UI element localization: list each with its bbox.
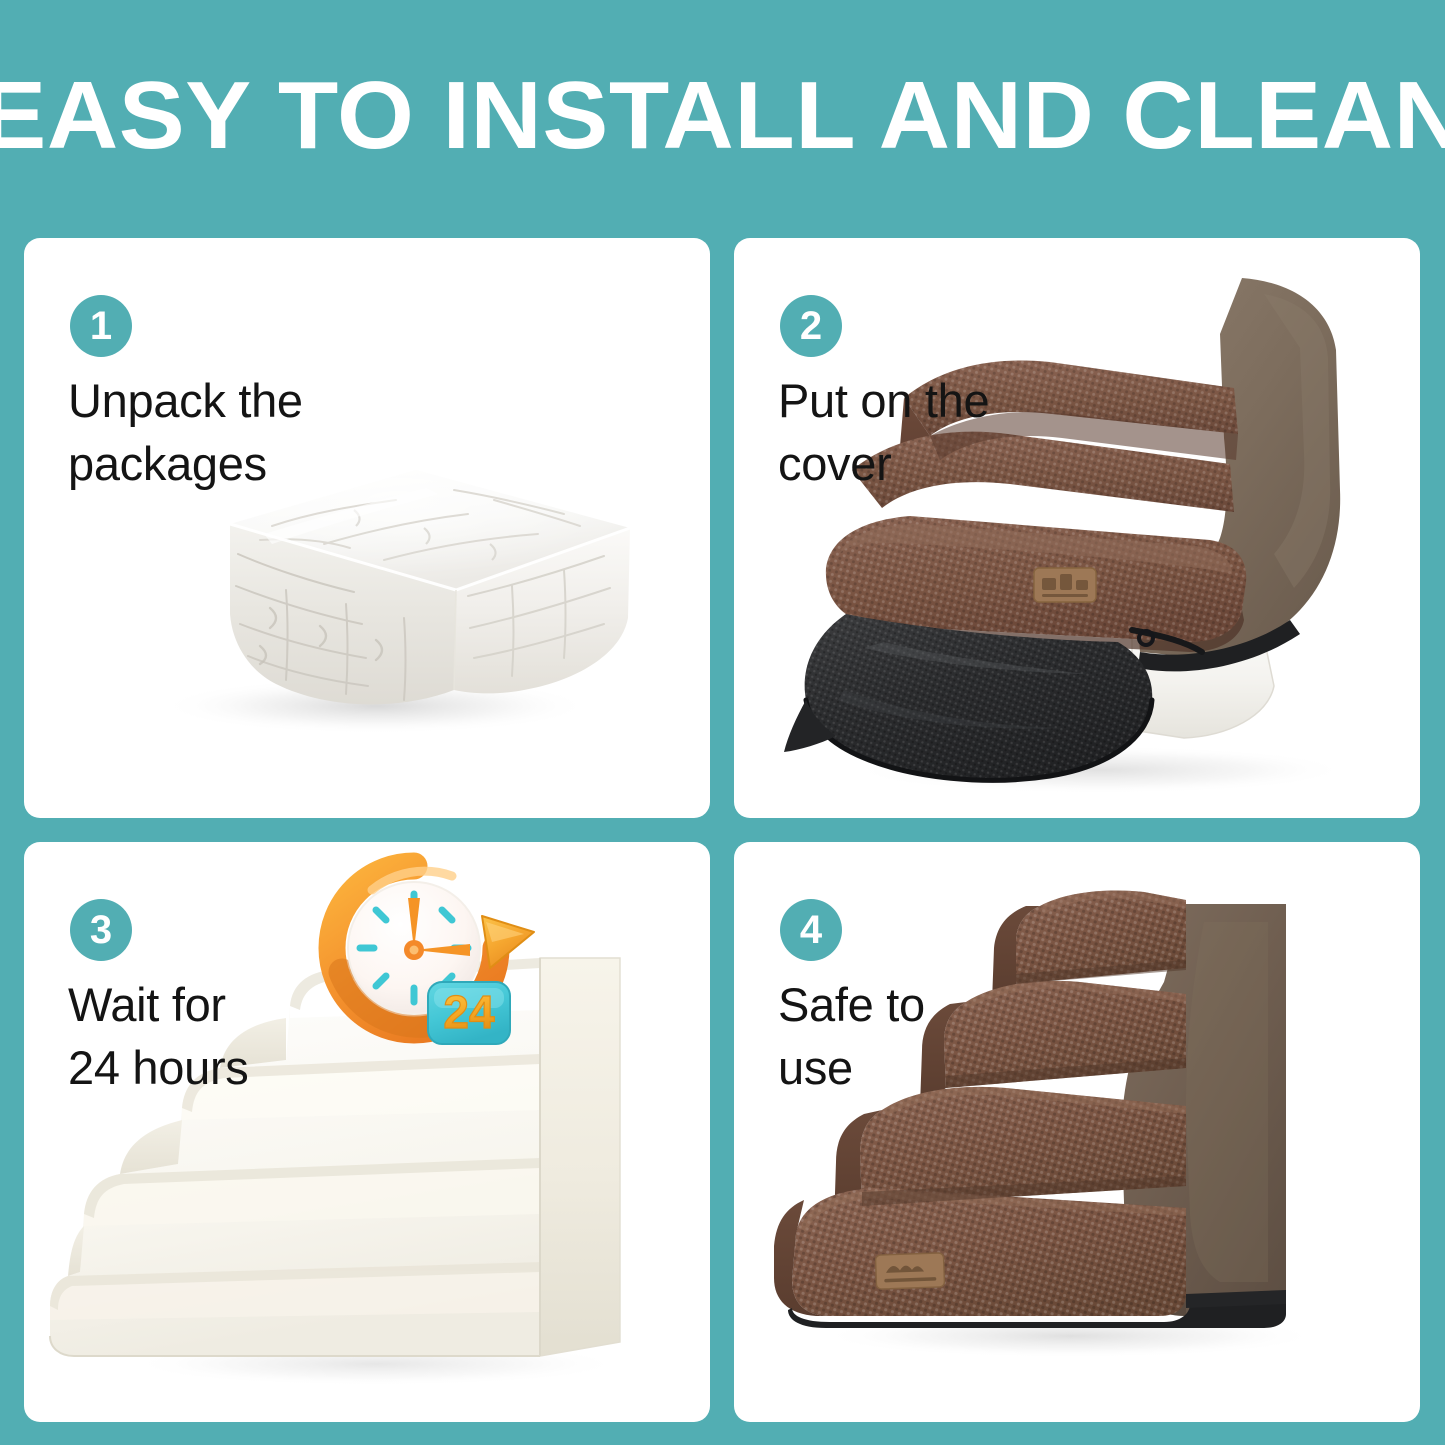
step-caption-1: Unpack the packages [68, 370, 368, 495]
leather-label-icon [1034, 568, 1096, 602]
step-caption-3: Wait for 24 hours [68, 974, 368, 1099]
step-card-4: 4 Safe to use [734, 842, 1420, 1422]
steps-grid: 1 Unpack the packages [24, 238, 1422, 1422]
step-card-1: 1 Unpack the packages [24, 238, 710, 818]
title-bar: EASY TO INSTALL AND CLEAN [0, 0, 1445, 238]
step-number-badge-4: 4 [780, 899, 842, 961]
step-card-2: 2 Put on the cover [734, 238, 1420, 818]
step-caption-2: Put on the cover [778, 370, 1078, 495]
step-number-badge-1: 1 [70, 295, 132, 357]
step-card-3: 24 3 Wait for 24 hours [24, 842, 710, 1422]
step-number-badge-3: 3 [70, 899, 132, 961]
step-caption-4: Safe to use [778, 974, 1078, 1099]
clock-badge-text: 24 [443, 986, 495, 1038]
leather-label-icon [875, 1253, 944, 1289]
page-title: EASY TO INSTALL AND CLEAN [0, 68, 1445, 164]
infographic-root: EASY TO INSTALL AND CLEAN [0, 0, 1445, 1445]
step-number-badge-2: 2 [780, 295, 842, 357]
